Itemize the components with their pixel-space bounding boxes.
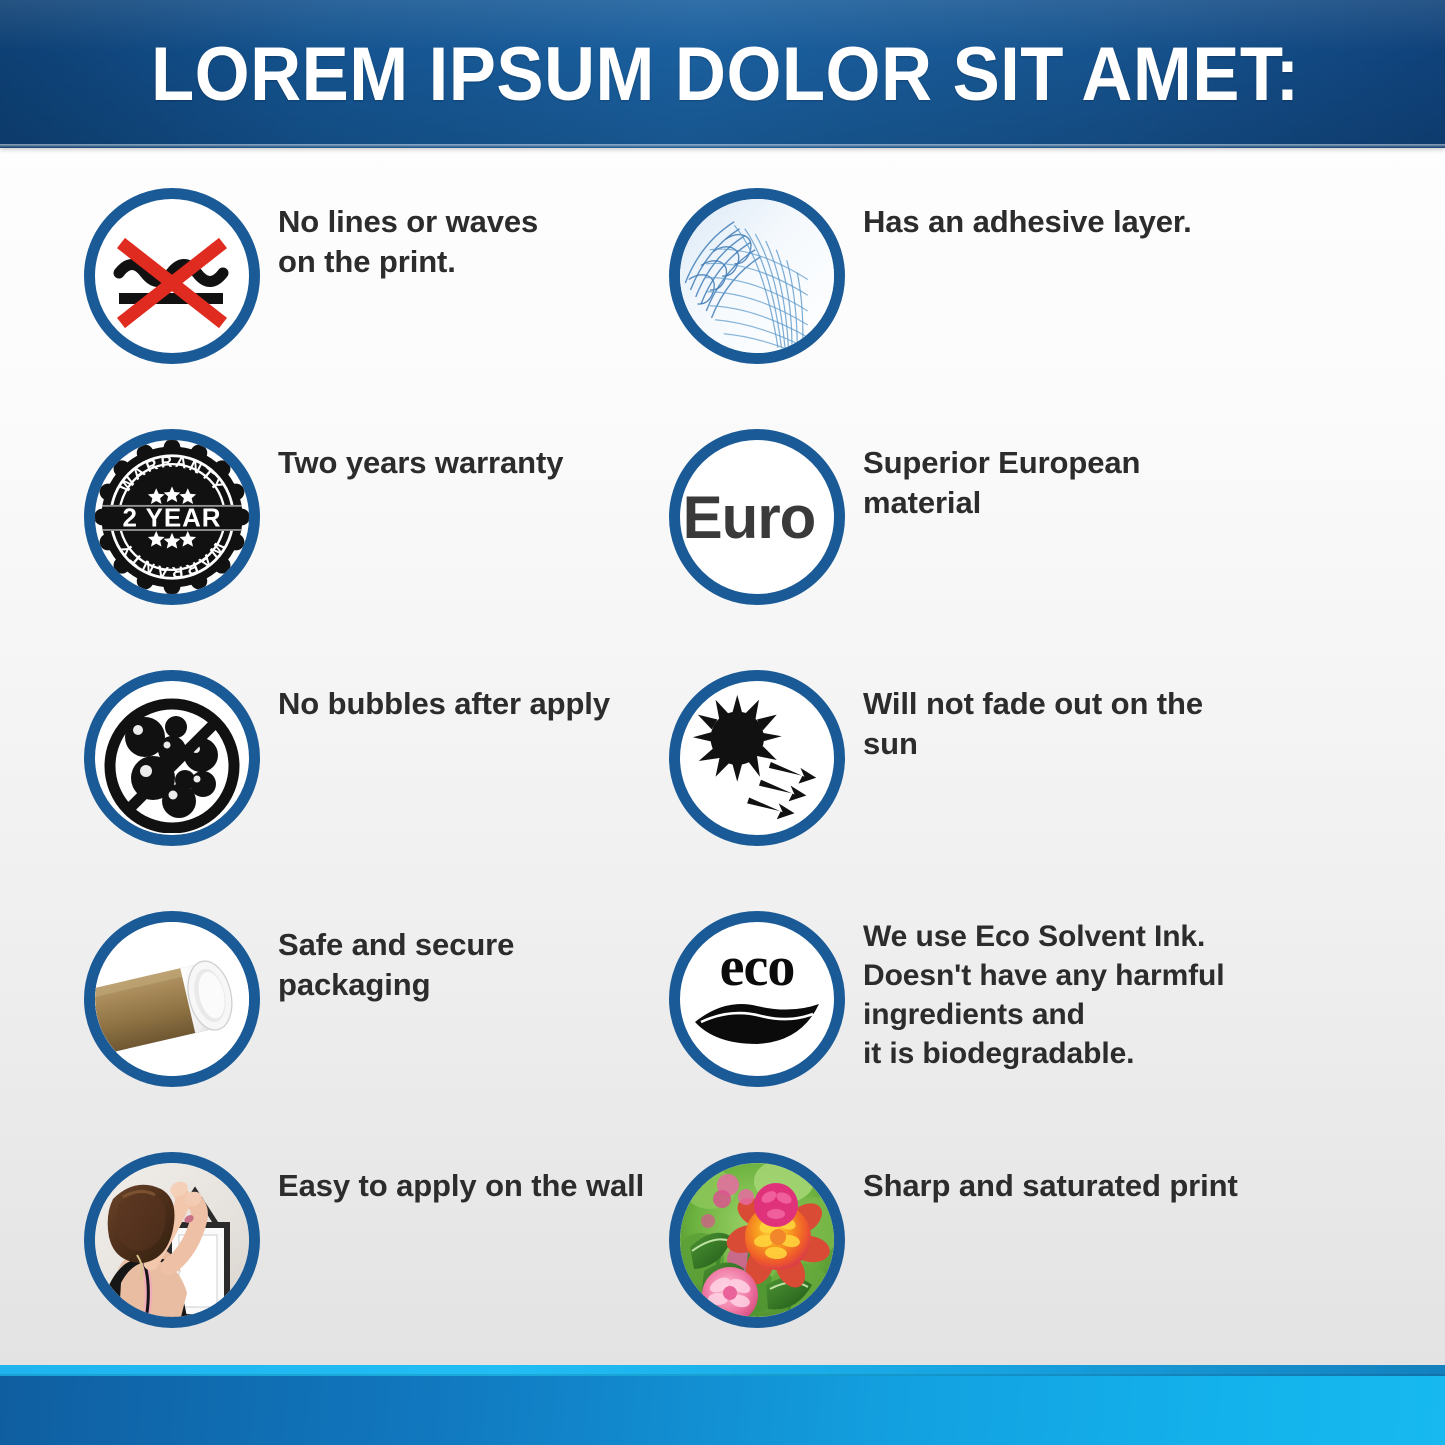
no-lines-waves-icon <box>84 188 260 364</box>
flowers-photo <box>669 1152 845 1328</box>
feature-label: We use Eco Solvent Ink. Doesn't have any… <box>863 911 1225 1073</box>
feature-label: Easy to apply on the wall <box>278 1152 644 1206</box>
feature-no-lines-or-waves[interactable]: No lines or waves on the print. <box>84 188 659 364</box>
eco-leaf-icon: eco <box>669 911 845 1087</box>
feature-label: Will not fade out on the sun <box>863 670 1244 765</box>
feature-row-1: No lines or waves on the print. <box>84 188 1361 429</box>
feature-adhesive-layer[interactable]: Has an adhesive layer. <box>669 188 1244 364</box>
warranty-center-text: 2 YEAR <box>123 502 222 532</box>
header-banner: LOREM IPSUM DOLOR SIT AMET: <box>0 0 1445 148</box>
infographic-poster: LOREM IPSUM DOLOR SIT AMET: <box>0 0 1445 1445</box>
feature-label: Has an adhesive layer. <box>863 188 1192 242</box>
feature-easy-to-apply[interactable]: Easy to apply on the wall <box>84 1152 659 1328</box>
woman-hanging-frame-photo <box>84 1152 260 1328</box>
feature-label: No bubbles after apply <box>278 670 610 724</box>
sun-fade-icon <box>669 670 845 846</box>
feature-two-years-warranty[interactable]: WARRANTY WARRANTY <box>84 429 659 605</box>
leaf-shape-icon <box>691 994 823 1048</box>
feature-no-bubbles[interactable]: No bubbles after apply <box>84 670 659 846</box>
feature-label: No lines or waves on the print. <box>278 188 538 283</box>
page-title: LOREM IPSUM DOLOR SIT AMET: <box>145 31 1299 118</box>
footer-accent-strip <box>0 1365 1445 1376</box>
feature-label: Sharp and saturated print <box>863 1152 1238 1206</box>
footer-bar <box>0 1365 1445 1445</box>
feature-row-3: No bubbles after apply <box>84 670 1361 911</box>
feature-fade-resistant[interactable]: Will not fade out on the sun <box>669 670 1244 846</box>
adhesive-film-icon <box>669 188 845 364</box>
feature-safe-packaging[interactable]: Safe and secure packaging <box>84 911 659 1087</box>
feature-label: Safe and secure packaging <box>278 911 659 1006</box>
euro-badge-text: Euro <box>683 483 816 552</box>
eco-badge-text: eco <box>720 942 795 992</box>
warranty-seal-icon: WARRANTY WARRANTY <box>84 429 260 605</box>
mailing-tube-icon <box>84 911 260 1087</box>
feature-row-2: WARRANTY WARRANTY <box>84 429 1361 670</box>
features-grid: No lines or waves on the print. <box>0 148 1445 1365</box>
feature-row-4: Safe and secure packaging eco <box>84 911 1361 1152</box>
feature-row-5: Easy to apply on the wall <box>84 1152 1361 1393</box>
feature-eco-solvent-ink[interactable]: eco We use Eco Solvent Ink. Doesn't have… <box>669 911 1244 1087</box>
feature-label: Two years warranty <box>278 429 563 483</box>
feature-sharp-saturated-print[interactable]: Sharp and saturated print <box>669 1152 1244 1328</box>
feature-superior-european-material[interactable]: Euro Superior European material <box>669 429 1244 605</box>
no-bubbles-icon <box>84 670 260 846</box>
feature-label: Superior European material <box>863 429 1244 524</box>
euro-icon: Euro <box>669 429 845 605</box>
